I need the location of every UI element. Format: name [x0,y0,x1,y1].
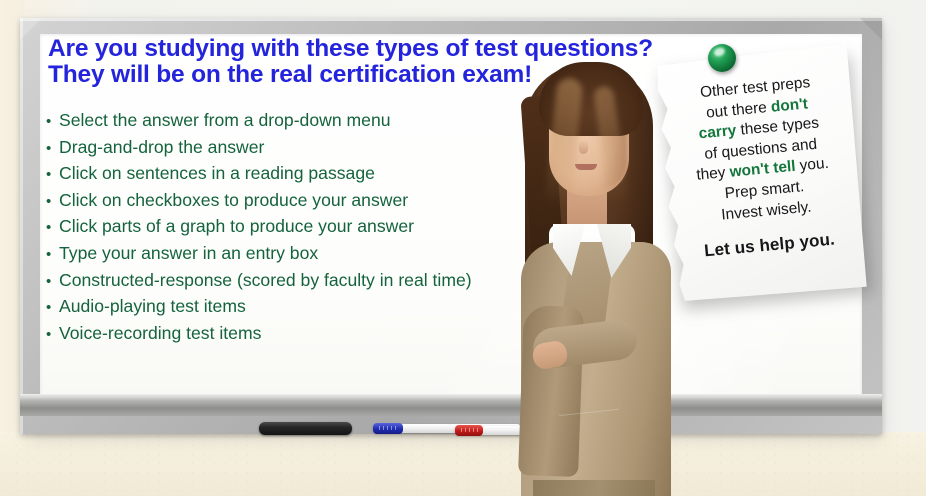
bullet-dot-icon: • [46,296,59,321]
blue-marker-cap [373,423,403,434]
sticky-note-emphasis: carry [698,122,737,142]
bullet-item-label: Audio-playing test items [59,294,246,319]
bullet-item-label: Click on checkboxes to produce your answ… [59,188,408,213]
frame-corner-top-left [20,18,42,40]
bullet-item-label: Voice-recording test items [59,321,261,346]
skirt [533,480,655,496]
bullet-item-label: Drag-and-drop the answer [59,135,264,160]
bullet-dot-icon: • [46,216,59,241]
frame-left-bevel [20,18,23,434]
bullet-item-label: Type your answer in an entry box [59,241,318,266]
nose [579,140,588,154]
pushpin-icon [708,44,736,72]
sticky-note-text-run: they [696,164,731,184]
bullet-dot-icon: • [46,110,59,135]
bullet-item: •Voice-recording test items [46,321,566,348]
marker-tray [20,396,882,416]
bullet-list: •Select the answer from a drop-down menu… [46,108,566,347]
bullet-item-label: Click parts of a graph to produce your a… [59,214,414,239]
red-marker-cap [455,425,483,436]
bullet-item: •Click parts of a graph to produce your … [46,214,566,241]
bullet-dot-icon: • [46,163,59,188]
whiteboard-eraser[interactable] [259,422,352,435]
bullet-item: •Audio-playing test items [46,294,566,321]
frame-corner-top-right [860,18,882,40]
sticky-note-text: Other test prepsout there don'tcarry the… [651,44,868,305]
frame-top-bevel [20,18,882,21]
bullet-item: •Drag-and-drop the answer [46,135,566,162]
mouth [575,164,597,170]
bullet-item: •Select the answer from a drop-down menu [46,108,566,135]
sticky-note-text-run: you. [795,155,830,175]
bullet-dot-icon: • [46,270,59,295]
slide-canvas: Are you studying with these types of tes… [0,0,926,496]
marker-cap-ribs [461,428,479,432]
bullet-item: •Click on checkboxes to produce your ans… [46,188,566,215]
floor-texture [0,432,926,496]
bullet-dot-icon: • [46,137,59,162]
bullet-item-label: Select the answer from a drop-down menu [59,108,391,133]
pushpin-highlight [713,46,726,58]
bullet-dot-icon: • [46,243,59,268]
bullet-item: •Constructed-response (scored by faculty… [46,268,566,295]
bullet-item-label: Constructed-response (scored by faculty … [59,268,472,293]
bullet-dot-icon: • [46,190,59,215]
sticky-note-emphasis: don't [770,95,808,115]
marker-cap-ribs [379,426,397,430]
bullet-item-label: Click on sentences in a reading passage [59,161,375,186]
bullet-item: •Type your answer in an entry box [46,241,566,268]
sticky-note: Other test prepsout there don'tcarry the… [662,52,872,308]
bullet-dot-icon: • [46,323,59,348]
bullet-item: •Click on sentences in a reading passage [46,161,566,188]
